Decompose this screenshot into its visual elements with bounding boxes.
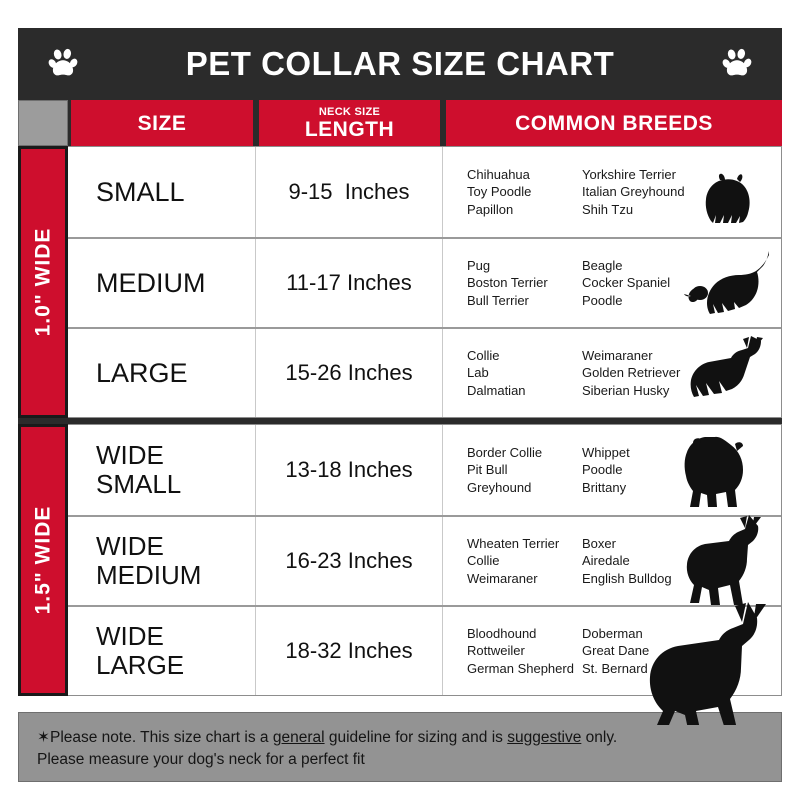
row-neck-length: 11-17 Inches bbox=[256, 239, 443, 327]
row-breeds-col2: Yorkshire Terrier Italian Greyhound Shih… bbox=[582, 166, 707, 217]
row-size: MEDIUM bbox=[68, 239, 256, 327]
row-breeds-col2: Boxer Airedale English Bulldog bbox=[582, 535, 707, 586]
footer-note-line-1-c: only. bbox=[581, 729, 617, 746]
row-size: WIDE LARGE bbox=[68, 607, 256, 695]
table-row: SMALL 9-15 Inches Chihuahua Toy Poodle P… bbox=[68, 147, 781, 237]
column-header-common-breeds: COMMON BREEDS bbox=[443, 100, 782, 146]
table-row: WIDE SMALL 13-18 Inches Border Collie Pi… bbox=[68, 425, 781, 515]
footer-note-underline-suggestive: suggestive bbox=[507, 729, 581, 746]
footer-note-line-1: ✶Please note. This size chart is a gener… bbox=[37, 727, 763, 749]
row-breeds: Pug Boston Terrier Bull Terrier Beagle C… bbox=[443, 239, 781, 327]
table-row: LARGE 15-26 Inches Collie Lab Dalmatian … bbox=[68, 327, 781, 417]
table-row: WIDE LARGE 18-32 Inches Bloodhound Rottw… bbox=[68, 605, 781, 695]
footer-note-underline-general: general bbox=[273, 729, 325, 746]
footer-note-line-2: Please measure your dog's neck for a per… bbox=[37, 749, 763, 771]
row-breeds-col2: Doberman Great Dane St. Bernard bbox=[582, 625, 707, 676]
section-1-0-wide-rows: SMALL 9-15 Inches Chihuahua Toy Poodle P… bbox=[68, 146, 782, 418]
section-label-1-5-wide: 1.5" WIDE bbox=[18, 424, 68, 696]
section-label-1-0-wide-text: 1.0" WIDE bbox=[31, 228, 55, 337]
column-header-size-label: SIZE bbox=[138, 113, 187, 134]
row-breeds-col1: Border Collie Pit Bull Greyhound bbox=[467, 444, 582, 495]
footer-note-line-1-b: guideline for sizing and is bbox=[325, 729, 508, 746]
row-size: SMALL bbox=[68, 147, 256, 237]
row-neck-length: 16-23 Inches bbox=[256, 517, 443, 605]
row-size: WIDE SMALL bbox=[68, 425, 256, 515]
row-neck-length: 18-32 Inches bbox=[256, 607, 443, 695]
row-breeds-col1: Pug Boston Terrier Bull Terrier bbox=[467, 257, 582, 308]
row-breeds-col2: Whippet Poodle Brittany bbox=[582, 444, 707, 495]
header-corner-cell bbox=[18, 100, 68, 146]
section-1-5-wide-rows: WIDE SMALL 13-18 Inches Border Collie Pi… bbox=[68, 424, 782, 696]
section-label-1-5-wide-text: 1.5" WIDE bbox=[31, 506, 55, 615]
column-header-size: SIZE bbox=[68, 100, 256, 146]
table-row: MEDIUM 11-17 Inches Pug Boston Terrier B… bbox=[68, 237, 781, 327]
section-1-0-wide: 1.0" WIDE SMALL 9-15 Inches Chihuahua To… bbox=[18, 146, 782, 418]
row-breeds: Bloodhound Rottweiler German Shepherd Do… bbox=[443, 607, 781, 695]
row-breeds: Chihuahua Toy Poodle Papillon Yorkshire … bbox=[443, 147, 781, 237]
row-size: WIDE MEDIUM bbox=[68, 517, 256, 605]
row-neck-length: 13-18 Inches bbox=[256, 425, 443, 515]
section-label-1-0-wide: 1.0" WIDE bbox=[18, 146, 68, 418]
row-breeds: Border Collie Pit Bull Greyhound Whippet… bbox=[443, 425, 781, 515]
paw-print-icon-left bbox=[46, 47, 80, 81]
row-size: LARGE bbox=[68, 329, 256, 417]
page-title: PET COLLAR SIZE CHART bbox=[80, 45, 720, 83]
column-header-neck-length: NECK SIZE LENGTH bbox=[256, 100, 443, 146]
table-header-row: SIZE NECK SIZE LENGTH COMMON BREEDS bbox=[18, 100, 782, 146]
row-breeds: Wheaten Terrier Collie Weimaraner Boxer … bbox=[443, 517, 781, 605]
row-breeds-col1: Collie Lab Dalmatian bbox=[467, 347, 582, 398]
table-row: WIDE MEDIUM 16-23 Inches Wheaten Terrier… bbox=[68, 515, 781, 605]
footer-note: ✶Please note. This size chart is a gener… bbox=[18, 712, 782, 782]
row-breeds-col1: Chihuahua Toy Poodle Papillon bbox=[467, 166, 582, 217]
column-header-breeds-label: COMMON BREEDS bbox=[515, 113, 713, 134]
chart-title-bar: PET COLLAR SIZE CHART bbox=[18, 28, 782, 100]
row-neck-length: 15-26 Inches bbox=[256, 329, 443, 417]
row-breeds-col2: Beagle Cocker Spaniel Poodle bbox=[582, 257, 707, 308]
row-breeds: Collie Lab Dalmatian Weimaraner Golden R… bbox=[443, 329, 781, 417]
row-breeds-col2: Weimaraner Golden Retriever Siberian Hus… bbox=[582, 347, 707, 398]
size-chart-table: SIZE NECK SIZE LENGTH COMMON BREEDS 1.0"… bbox=[18, 100, 782, 696]
column-header-neck-sub: NECK SIZE bbox=[319, 106, 380, 118]
footer-note-line-1-a: ✶Please note. This size chart is a bbox=[37, 729, 273, 746]
row-neck-length: 9-15 Inches bbox=[256, 147, 443, 237]
row-breeds-col1: Wheaten Terrier Collie Weimaraner bbox=[467, 535, 582, 586]
pet-collar-size-chart: PET COLLAR SIZE CHART SIZE NECK SIZE bbox=[0, 0, 800, 800]
row-breeds-col1: Bloodhound Rottweiler German Shepherd bbox=[467, 625, 582, 676]
column-header-neck-main: LENGTH bbox=[305, 119, 394, 140]
section-1-5-wide: 1.5" WIDE WIDE SMALL 13-18 Inches Border… bbox=[18, 418, 782, 696]
paw-print-icon-right bbox=[720, 47, 754, 81]
